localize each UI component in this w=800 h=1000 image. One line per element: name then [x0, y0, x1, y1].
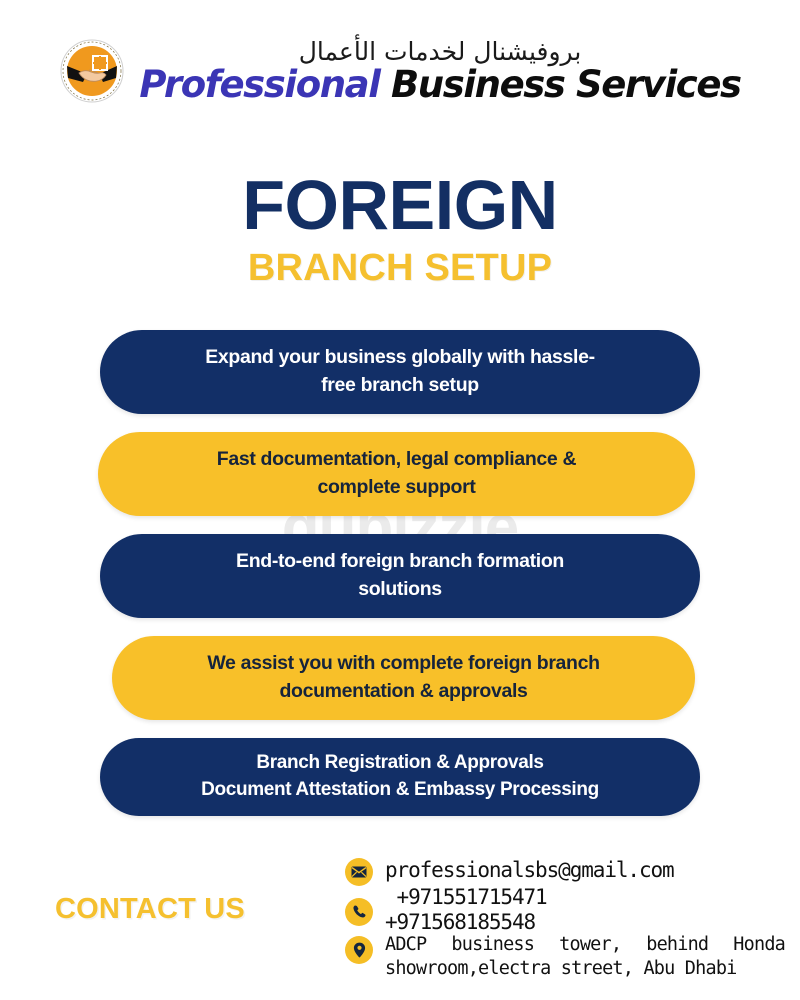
feature-pill-1: Expand your business globally with hassl… [100, 330, 700, 414]
brand-name-professional: Professional [139, 63, 391, 106]
feature-pill-1-line2: free branch setup [205, 372, 594, 400]
brand-header: بروفيشنال لخدمات الأعمال Professional Bu… [0, 38, 800, 104]
brand-name-latin: Professional Business Services [139, 66, 740, 103]
feature-pill-list: Expand your business globally with hassl… [0, 330, 800, 816]
contact-row-email[interactable]: professionalsbs@gmail.com [345, 853, 785, 887]
contact-phone-numbers: +971551715471 +971568185548 [385, 885, 547, 935]
feature-pill-3: End-to-end foreign branch formation solu… [100, 534, 700, 618]
contact-row-phone[interactable]: +971551715471 +971568185548 [345, 887, 785, 933]
feature-pill-4: We assist you with complete foreign bran… [112, 636, 695, 720]
feature-pill-5-line1: Branch Registration & Approvals [201, 750, 599, 777]
feature-pill-4-line2: documentation & approvals [207, 678, 599, 706]
feature-pill-2-line1: Fast documentation, legal compliance & [217, 446, 576, 474]
feature-pill-5-line2: Document Attestation & Embassy Processin… [201, 777, 599, 804]
handshake-circle-logo-icon [59, 38, 125, 104]
contact-phone-1[interactable]: +971551715471 [385, 885, 547, 910]
brand-name-arabic: بروفيشنال لخدمات الأعمال [139, 39, 740, 64]
feature-pill-4-line1: We assist you with complete foreign bran… [207, 650, 599, 678]
headline-sub: BRANCH SETUP [0, 249, 800, 287]
headline-main: FOREIGN [0, 170, 800, 241]
contact-us-heading: CONTACT US [55, 893, 245, 926]
contact-row-address: ADCP business tower, behind Honda showro… [345, 933, 785, 989]
feature-pill-1-line1: Expand your business globally with hassl… [205, 344, 594, 372]
location-pin-icon [345, 936, 373, 964]
page-title: FOREIGN BRANCH SETUP [0, 170, 800, 287]
contact-section: CONTACT US professionalsbs@gmail.com [0, 845, 800, 995]
feature-pill-3-line1: End-to-end foreign branch formation [236, 548, 564, 576]
company-logo [59, 38, 125, 104]
envelope-icon [345, 858, 373, 886]
brand-name-business-services: Business Services [391, 63, 741, 106]
phone-icon [345, 898, 373, 926]
brand-wordmark: بروفيشنال لخدمات الأعمال Professional Bu… [139, 39, 740, 103]
feature-pill-3-line2: solutions [236, 576, 564, 604]
contact-email[interactable]: professionalsbs@gmail.com [385, 858, 674, 883]
contact-phone-2[interactable]: +971568185548 [385, 910, 547, 935]
flyer-page: dubizzle بروفيشنال لخدمات الأعمال Profes… [0, 0, 800, 1000]
feature-pill-2: Fast documentation, legal compliance & c… [98, 432, 695, 516]
feature-pill-5: Branch Registration & Approvals Document… [100, 738, 700, 816]
feature-pill-2-line2: complete support [217, 474, 576, 502]
contact-address: ADCP business tower, behind Honda showro… [385, 933, 785, 981]
contact-details-list: professionalsbs@gmail.com +971551715471 … [345, 853, 785, 989]
